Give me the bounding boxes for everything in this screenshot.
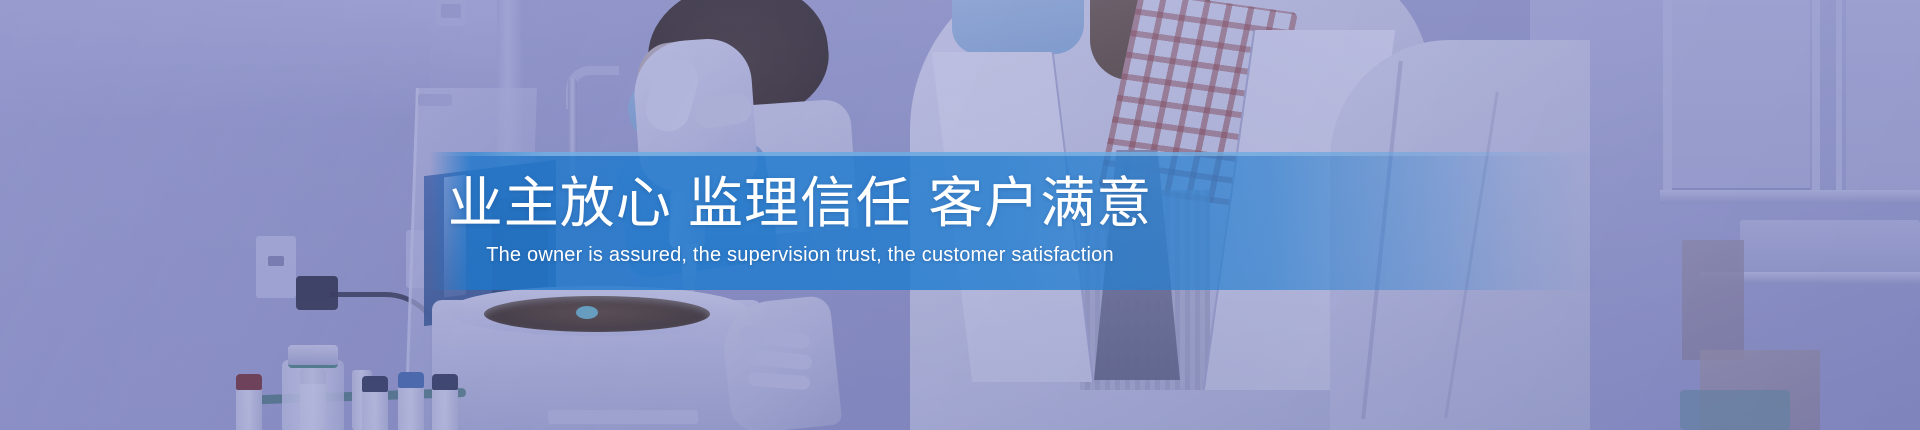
hero-banner: 业主放心 监理信任 客户满意 The owner is assured, the… xyxy=(0,0,1920,430)
banner-headline: 业主放心 监理信任 客户满意 xyxy=(448,175,1153,233)
banner-subheadline: The owner is assured, the supervision tr… xyxy=(486,244,1114,267)
banner-text-block: 业主放心 监理信任 客户满意 The owner is assured, the… xyxy=(0,152,1600,290)
